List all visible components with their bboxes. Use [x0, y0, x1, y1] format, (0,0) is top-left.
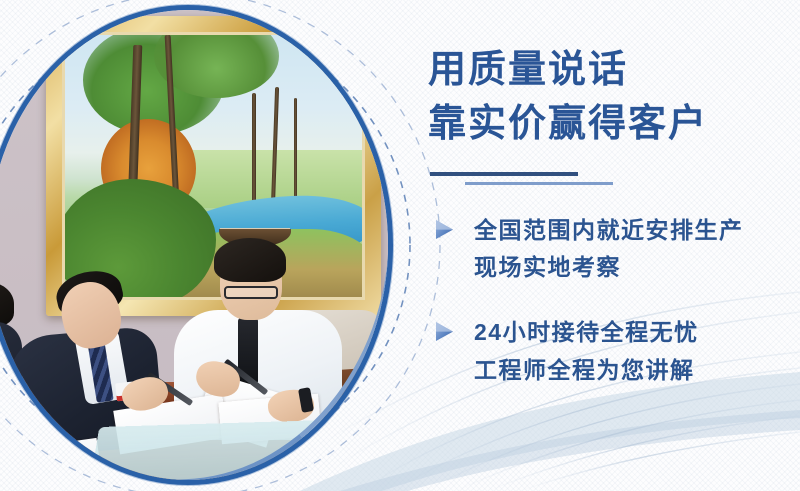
document-sheet: [113, 394, 229, 455]
feature-text-line-2: 现场实地考察: [474, 249, 788, 286]
play-arrow-icon: [432, 218, 456, 242]
eyeglasses-icon: [224, 286, 278, 299]
divider-rule-light: [465, 182, 613, 185]
person-right-head: [220, 248, 282, 320]
landscape-painting: [65, 35, 362, 297]
hero-photo: [0, 10, 388, 480]
document-sheet: [195, 372, 282, 447]
feature-text-line-1: 全国范围内就近安排生产: [474, 212, 788, 249]
hand: [118, 372, 171, 415]
divider-rule-dark: [430, 172, 578, 176]
feature-text-line-1: 24小时接待全程无忧: [474, 314, 788, 351]
headline-line-2: 靠实价赢得客户: [428, 98, 788, 152]
headline-line-1: 用质量说话: [428, 44, 788, 98]
necktie-dark: [238, 318, 258, 384]
wristwatch: [298, 387, 314, 413]
hand: [193, 358, 243, 400]
pen-icon: [147, 372, 193, 406]
person-background: [0, 282, 14, 326]
office-wall: [0, 10, 388, 480]
necktie-striped: [87, 339, 113, 403]
promo-banner: 用质量说话 靠实价赢得客户: [0, 0, 800, 491]
feature-text-line-2: 工程师全程为您讲解: [474, 352, 788, 389]
play-arrow-icon: [432, 320, 456, 344]
feature-item: 24小时接待全程无忧 工程师全程为您讲解: [428, 314, 788, 389]
person-left-head: [55, 276, 126, 353]
person-right-shirt: [174, 310, 342, 440]
pen-icon: [224, 359, 269, 396]
hand: [266, 387, 316, 425]
hero-photo-frame: [0, 10, 388, 480]
painted-boat: [219, 229, 290, 247]
banner-content: 用质量说话 靠实价赢得客户: [428, 44, 788, 417]
picture-frame-mat: [62, 32, 365, 300]
headline: 用质量说话 靠实价赢得客户: [428, 44, 788, 152]
feature-item: 全国范围内就近安排生产 现场实地考察: [428, 212, 788, 287]
divider: [428, 166, 788, 192]
name-badge: [115, 381, 143, 402]
hero-photo-circle: [0, 10, 388, 480]
feature-list: 全国范围内就近安排生产 现场实地考察: [428, 212, 788, 389]
